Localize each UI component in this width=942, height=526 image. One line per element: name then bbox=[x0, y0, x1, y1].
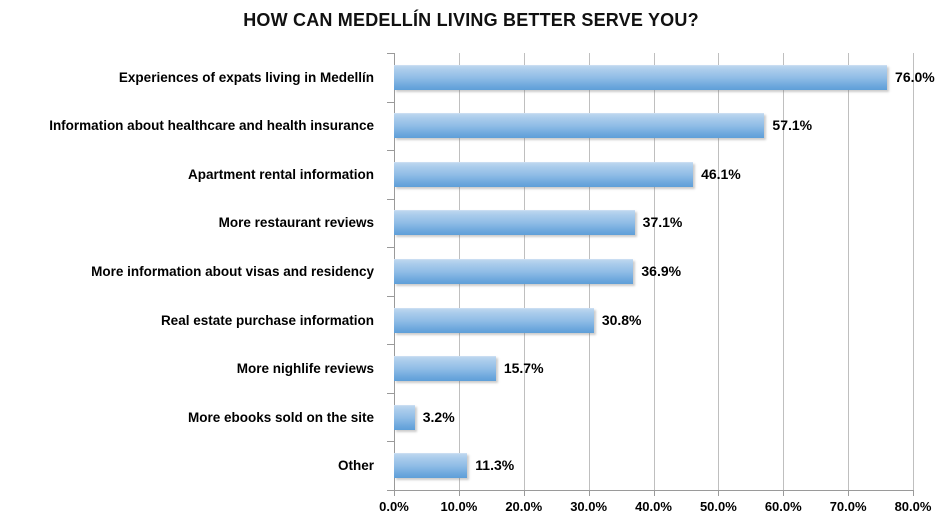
y-axis-tick bbox=[387, 490, 394, 491]
bar bbox=[394, 113, 764, 138]
bar-container bbox=[394, 453, 467, 478]
bar-value-label: 15.7% bbox=[504, 356, 544, 381]
bar-container bbox=[394, 162, 693, 187]
bar-row: More nighlife reviews15.7% bbox=[0, 344, 942, 393]
bar-row: More information about visas and residen… bbox=[0, 247, 942, 296]
x-axis-tick-label: 30.0% bbox=[554, 499, 624, 514]
bar-value-label: 36.9% bbox=[641, 259, 681, 284]
bar-value-label: 30.8% bbox=[602, 308, 642, 333]
category-label: More restaurant reviews bbox=[0, 210, 384, 235]
x-axis-tick bbox=[459, 490, 460, 496]
category-label: Real estate purchase information bbox=[0, 308, 384, 333]
y-axis-tick bbox=[387, 393, 394, 394]
bar-value-label: 57.1% bbox=[772, 113, 812, 138]
x-axis-tick-label: 40.0% bbox=[619, 499, 689, 514]
bar-container bbox=[394, 405, 415, 430]
category-label: Apartment rental information bbox=[0, 162, 384, 187]
y-axis-tick bbox=[387, 441, 394, 442]
x-axis-tick-label: 20.0% bbox=[489, 499, 559, 514]
bar-row: Other11.3% bbox=[0, 441, 942, 490]
bar bbox=[394, 259, 633, 284]
bar-container bbox=[394, 210, 635, 235]
bar-value-label: 46.1% bbox=[701, 162, 741, 187]
bar-row: More restaurant reviews37.1% bbox=[0, 199, 942, 248]
bar-container bbox=[394, 259, 633, 284]
x-axis-tick bbox=[848, 490, 849, 496]
bar-row: Apartment rental information46.1% bbox=[0, 150, 942, 199]
x-axis-tick bbox=[783, 490, 784, 496]
x-axis-tick-label: 60.0% bbox=[748, 499, 818, 514]
bar-value-label: 76.0% bbox=[895, 65, 935, 90]
bar bbox=[394, 210, 635, 235]
y-axis-tick bbox=[387, 247, 394, 248]
bar-chart: HOW CAN MEDELLÍN LIVING BETTER SERVE YOU… bbox=[0, 0, 942, 526]
y-axis-tick bbox=[387, 102, 394, 103]
category-label: Information about healthcare and health … bbox=[0, 113, 384, 138]
category-label: More nighlife reviews bbox=[0, 356, 384, 381]
bar bbox=[394, 453, 467, 478]
bar bbox=[394, 405, 415, 430]
bar bbox=[394, 356, 496, 381]
x-axis-tick-label: 0.0% bbox=[359, 499, 429, 514]
y-axis-tick bbox=[387, 150, 394, 151]
y-axis-tick bbox=[387, 344, 394, 345]
y-axis-tick bbox=[387, 296, 394, 297]
x-axis-tick-label: 50.0% bbox=[683, 499, 753, 514]
bar-row: More ebooks sold on the site3.2% bbox=[0, 393, 942, 442]
category-label: Other bbox=[0, 453, 384, 478]
bar-row: Information about healthcare and health … bbox=[0, 102, 942, 151]
bar-value-label: 37.1% bbox=[643, 210, 683, 235]
bar-container bbox=[394, 113, 764, 138]
bar-row: Experiences of expats living in Medellín… bbox=[0, 53, 942, 102]
bar-row: Real estate purchase information30.8% bbox=[0, 296, 942, 345]
x-axis-tick bbox=[913, 490, 914, 496]
x-axis-tick-label: 80.0% bbox=[878, 499, 942, 514]
y-axis-tick bbox=[387, 199, 394, 200]
x-axis-tick bbox=[524, 490, 525, 496]
bar-container bbox=[394, 308, 594, 333]
bar bbox=[394, 65, 887, 90]
x-axis-tick-label: 10.0% bbox=[424, 499, 494, 514]
x-axis-tick-label: 70.0% bbox=[813, 499, 883, 514]
x-axis-tick bbox=[589, 490, 590, 496]
category-label: More ebooks sold on the site bbox=[0, 405, 384, 430]
x-axis-tick bbox=[654, 490, 655, 496]
bar bbox=[394, 162, 693, 187]
bar-value-label: 11.3% bbox=[475, 453, 514, 478]
bar bbox=[394, 308, 594, 333]
bar-container bbox=[394, 65, 887, 90]
category-label: More information about visas and residen… bbox=[0, 259, 384, 284]
chart-title: HOW CAN MEDELLÍN LIVING BETTER SERVE YOU… bbox=[0, 10, 942, 31]
x-axis-tick bbox=[718, 490, 719, 496]
x-axis-tick bbox=[394, 490, 395, 496]
bar-value-label: 3.2% bbox=[423, 405, 455, 430]
y-axis-tick bbox=[387, 53, 394, 54]
bar-container bbox=[394, 356, 496, 381]
category-label: Experiences of expats living in Medellín bbox=[0, 65, 384, 90]
